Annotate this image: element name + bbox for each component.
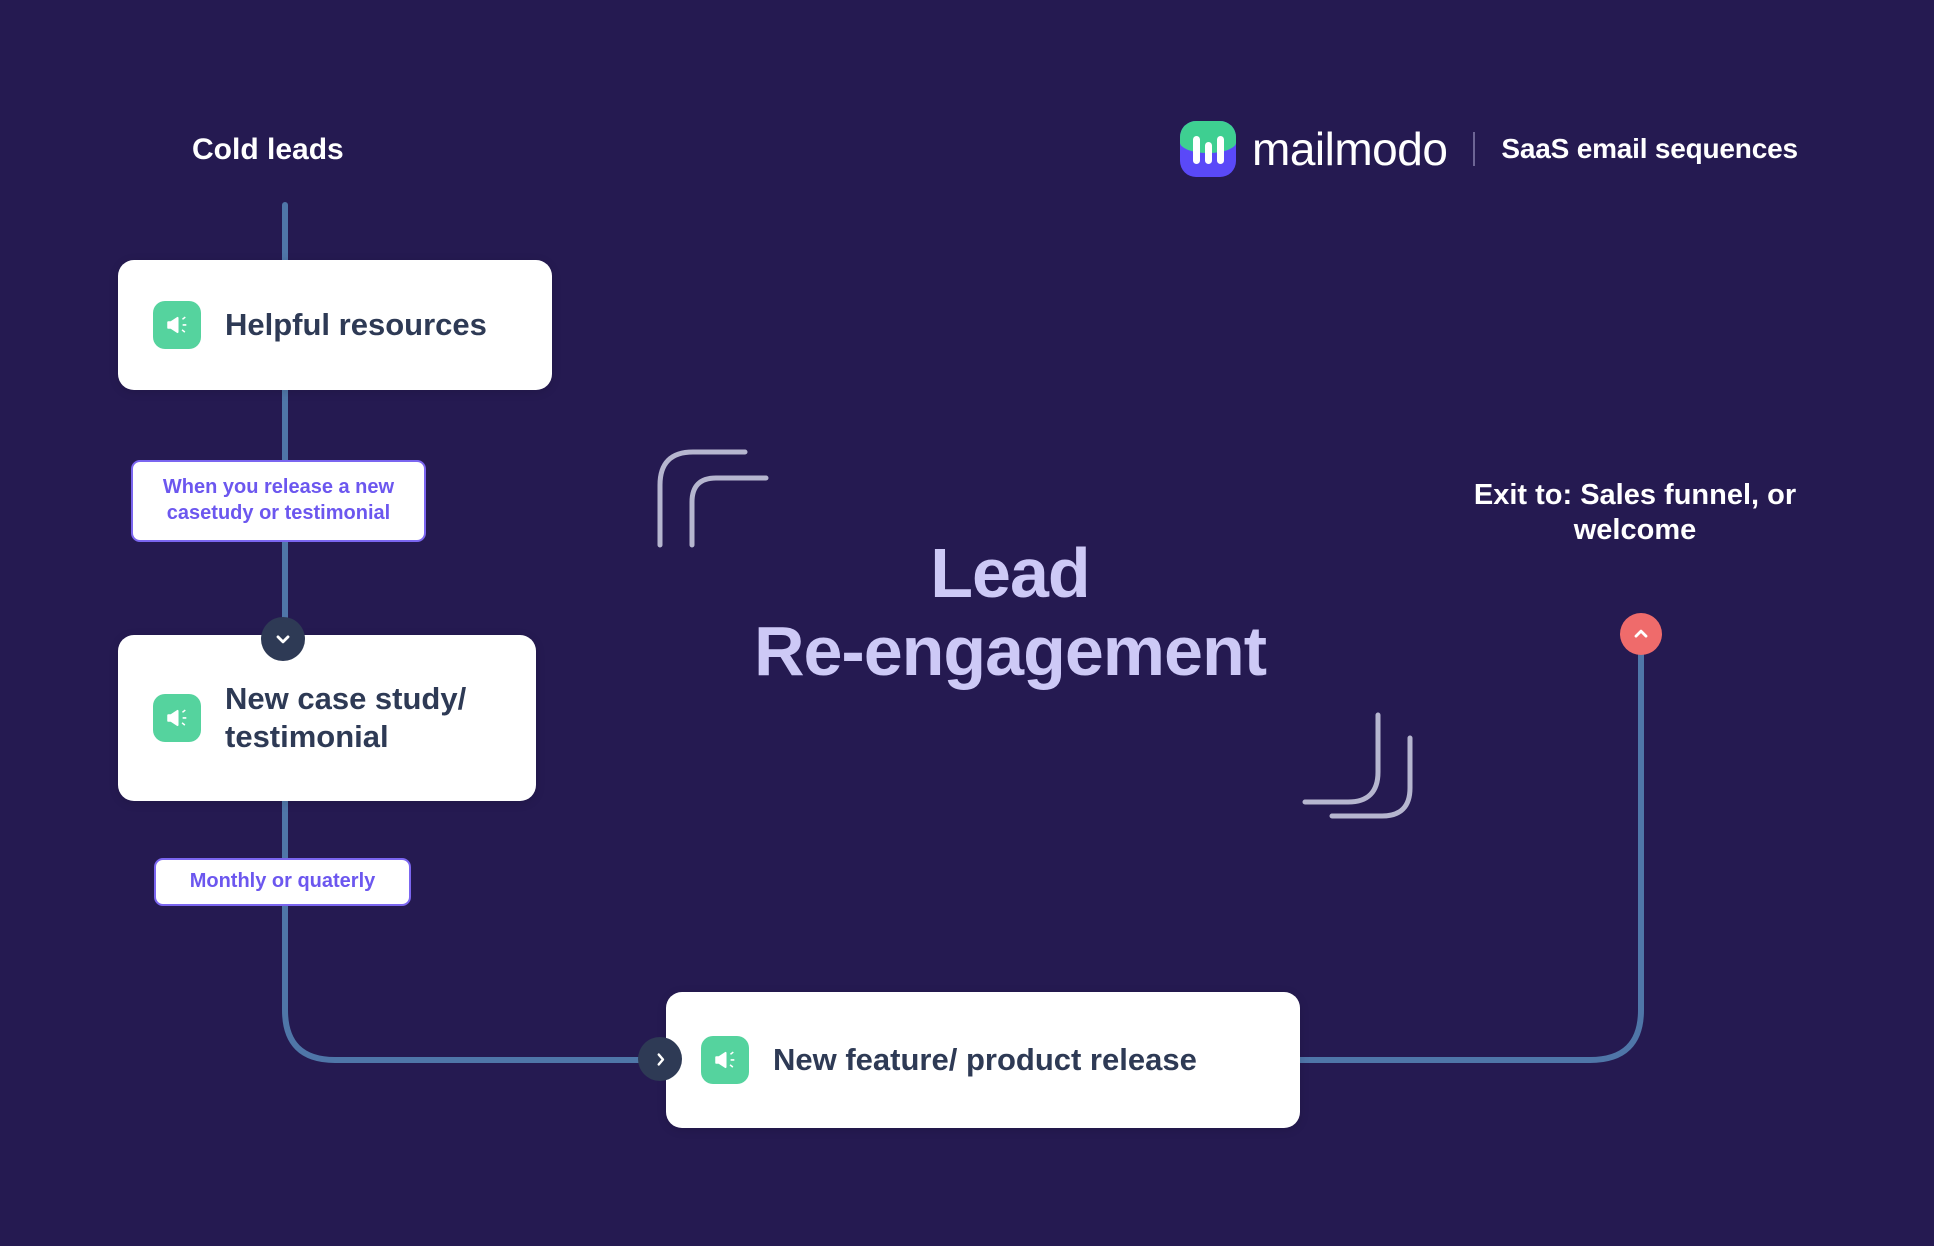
brand-tagline: SaaS email sequences [1501,133,1797,165]
connector-casestudy-to-newfeature [285,800,660,1060]
brand-separator [1473,132,1475,166]
card-helpful-resources[interactable]: Helpful resources [118,260,552,390]
flow-exit-marker[interactable] [1620,613,1662,655]
megaphone-icon [153,694,201,742]
megaphone-icon [701,1036,749,1084]
brand-header: mailmodo SaaS email sequences [1180,118,1798,180]
chevron-down-icon [273,629,293,649]
logo-bar-1 [1193,136,1200,164]
card-label: New feature/ product release [773,1041,1197,1079]
brand-name: mailmodo [1252,122,1447,176]
logo-bar-2 [1205,142,1212,164]
mailmodo-logo-icon [1180,121,1236,177]
chevron-right-icon [652,1051,669,1068]
card-label: New case study/ testimonial [225,680,466,757]
flow-right-marker[interactable] [638,1037,682,1081]
logo-bar-3 [1217,136,1224,164]
pill-release-trigger: When you release a new casetudy or testi… [131,460,426,542]
pill-cadence: Monthly or quaterly [154,858,411,906]
chevron-up-icon [1631,624,1651,644]
page-title: Lead Re-engagement [660,534,1360,691]
exit-label: Exit to: Sales funnel, or welcome [1440,478,1830,549]
entry-label: Cold leads [192,133,344,167]
card-new-case-study[interactable]: New case study/ testimonial [118,635,536,801]
corner-arc-bottom-right-icon [1300,710,1420,825]
flow-down-marker[interactable] [261,617,305,661]
megaphone-icon [153,301,201,349]
card-label: Helpful resources [225,306,487,344]
card-new-feature-product-release[interactable]: New feature/ product release [666,992,1300,1128]
corner-arc-top-left-icon [650,440,770,555]
diagram-canvas: mailmodo SaaS email sequences Cold leads… [0,0,1934,1246]
